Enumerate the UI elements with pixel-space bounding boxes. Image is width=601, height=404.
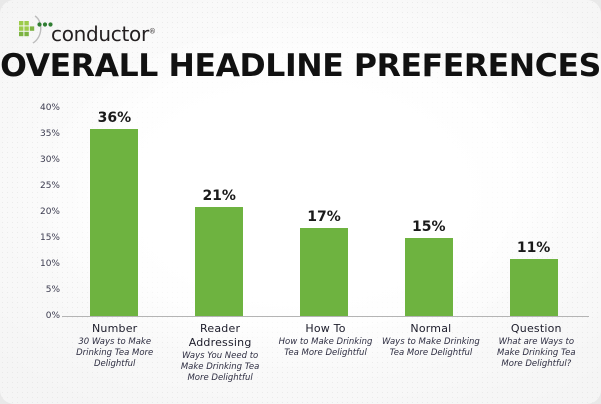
y-axis-tick-label: 10%: [40, 259, 60, 269]
logo-word-text: conductor: [51, 22, 149, 46]
conductor-logo-mark-icon: [17, 15, 53, 45]
category-label-group: Reader AddressingWays You Need to Make D…: [167, 322, 272, 394]
bar[interactable]: [90, 129, 138, 316]
category-label-group: NormalWays to Make Drinking Tea More Del…: [378, 322, 483, 394]
x-axis-categories: Number30 Ways to Make Drinking Tea More …: [62, 322, 589, 394]
x-axis-line: [62, 316, 589, 317]
bar-group[interactable]: 21%: [167, 108, 272, 316]
bar[interactable]: [510, 259, 558, 316]
bar-value-label: 21%: [202, 189, 236, 203]
category-label-group: Number30 Ways to Make Drinking Tea More …: [62, 322, 167, 394]
bar-value-label: 36%: [98, 111, 132, 125]
bar-group[interactable]: 11%: [481, 108, 586, 316]
bar-value-label: 17%: [307, 210, 341, 224]
category-example: Ways to Make Drinking Tea More Delightfu…: [381, 337, 480, 359]
y-axis-tick-label: 0%: [46, 311, 60, 321]
bar-group[interactable]: 15%: [376, 108, 481, 316]
category-example: Ways You Need to Make Drinking Tea More …: [170, 351, 269, 384]
y-axis-tick-label: 20%: [40, 207, 60, 217]
bar[interactable]: [195, 207, 243, 316]
category-example: What are Ways to Make Drinking Tea More …: [487, 337, 586, 370]
bar[interactable]: [300, 228, 348, 316]
conductor-wordmark: conductor®: [51, 24, 156, 44]
category-label-group: QuestionWhat are Ways to Make Drinking T…: [484, 322, 589, 394]
category-example: 30 Ways to Make Drinking Tea More Deligh…: [65, 337, 164, 370]
bar-group[interactable]: 17%: [272, 108, 377, 316]
y-axis-tick-label: 5%: [46, 285, 60, 295]
category-title: Reader Addressing: [170, 322, 269, 350]
y-axis-tick-label: 30%: [40, 155, 60, 165]
bar-value-label: 15%: [412, 220, 446, 234]
category-title: Number: [65, 322, 164, 336]
bar[interactable]: [405, 238, 453, 316]
conductor-logo: conductor®: [17, 11, 156, 45]
category-title: Normal: [381, 322, 480, 336]
category-example: How to Make Drinking Tea More Delightful: [276, 337, 375, 359]
chart-card: conductor® OVERALL HEADLINE PREFERENCES …: [0, 0, 601, 404]
y-axis: 0%5%10%15%20%25%30%35%40%: [22, 96, 60, 316]
bar-value-label: 11%: [517, 241, 551, 255]
page-title: OVERALL HEADLINE PREFERENCES: [0, 48, 601, 84]
category-title: Question: [487, 322, 586, 336]
y-axis-tick-label: 15%: [40, 233, 60, 243]
bar-group[interactable]: 36%: [62, 108, 167, 316]
category-label-group: How ToHow to Make Drinking Tea More Deli…: [273, 322, 378, 394]
y-axis-tick-label: 35%: [40, 129, 60, 139]
y-axis-tick-label: 40%: [40, 103, 60, 113]
plot-area: 36%21%17%15%11%: [62, 108, 586, 316]
y-axis-tick-label: 25%: [40, 181, 60, 191]
category-title: How To: [276, 322, 375, 336]
logo-trademark: ®: [149, 27, 156, 35]
